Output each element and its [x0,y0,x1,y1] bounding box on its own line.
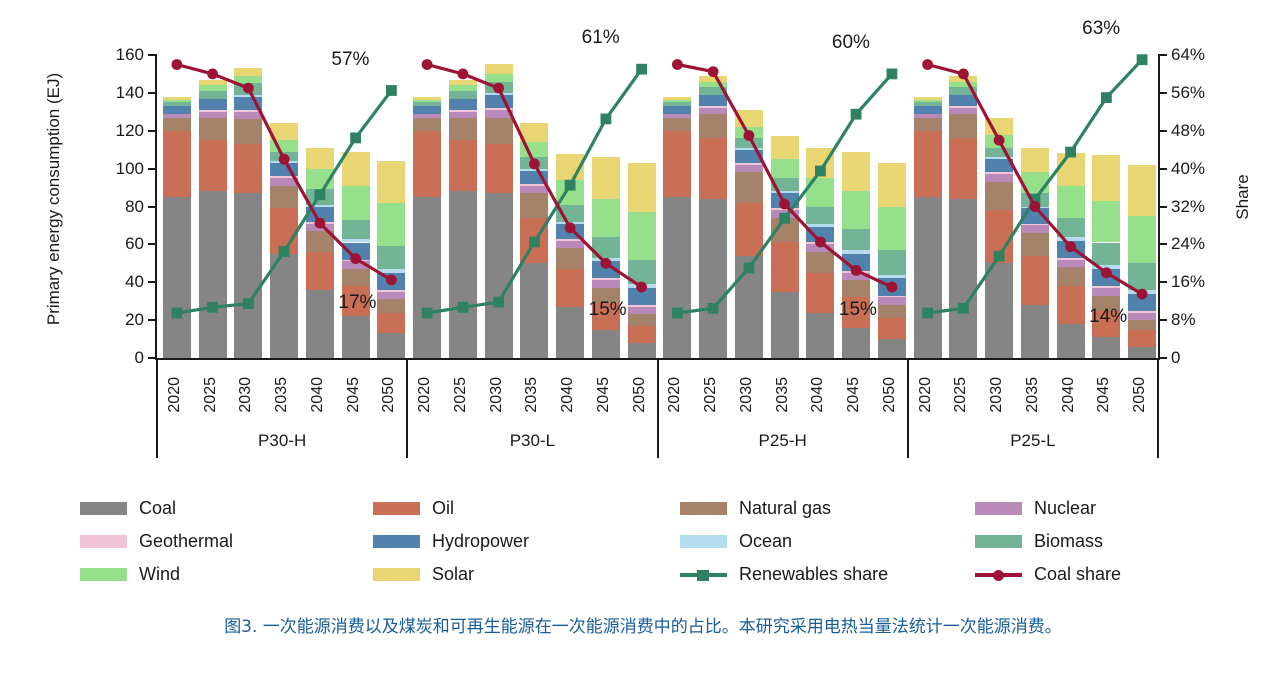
marker-renewables-share [779,213,790,224]
marker-coal-share [994,135,1005,146]
x-axis-tick-label: 2050 [1131,377,1149,437]
group-label-p25-l: P25-L [908,431,1158,451]
legend-item-oil[interactable]: Oil [373,498,454,519]
marker-coal-share [350,253,361,264]
x-axis-tick-label: 2050 [631,377,649,437]
legend-swatch-icon [373,535,420,548]
marker-coal-share [172,59,183,70]
y-axis-left-tick-label: 20 [125,310,144,330]
legend-item-coal[interactable]: Coal [80,498,176,519]
line-coal-share [677,65,892,288]
annotation-renewables-share-p30-l: 61% [582,27,620,49]
marker-renewables-share [672,308,683,319]
marker-renewables-share [565,180,576,191]
legend-swatch-icon [80,535,127,548]
y-axis-right-tick-label: 16% [1171,272,1205,292]
x-axis-tick-label: 2020 [917,377,935,437]
annotation-coal-share-p25-h: 15% [839,299,877,321]
marker-coal-share [315,218,326,229]
y-axis-right-tick [1158,130,1167,132]
legend-item-ocean[interactable]: Ocean [680,531,792,552]
legend-swatch-icon [373,502,420,515]
figure-caption: 图3. 一次能源消费以及煤炭和可再生能源在一次能源消费中的占比。本研究采用电热当… [0,612,1286,637]
y-axis-right-tick-label: 56% [1171,83,1205,103]
group-separator [406,360,408,458]
marker-coal-share [458,69,469,80]
y-axis-left-tick-label: 140 [116,83,144,103]
x-axis-tick-label: 2040 [559,377,577,437]
marker-renewables-share [529,237,540,248]
marker-coal-share [887,282,898,293]
group-label-p30-h: P30-H [157,431,407,451]
legend-label: Coal [139,498,176,519]
marker-renewables-share [815,166,826,177]
x-axis-tick-label: 2030 [237,377,255,437]
marker-renewables-share [422,308,433,319]
marker-renewables-share [207,302,218,313]
x-axis-tick-label: 2030 [488,377,506,437]
legend-label: Biomass [1034,531,1103,552]
legend-item-natural-gas[interactable]: Natural gas [680,498,831,519]
line-renewables-share [177,91,392,314]
y-axis-right-tick-label: 8% [1171,310,1196,330]
y-axis-right-tick [1158,168,1167,170]
y-axis-left-tick-label: 40 [125,272,144,292]
x-axis-tick-label: 2025 [702,377,720,437]
y-axis-right-title: Share [1233,152,1257,242]
marker-renewables-share [493,297,504,308]
marker-renewables-share [851,109,862,120]
x-axis-tick-label: 2020 [666,377,684,437]
legend-swatch-icon [680,502,727,515]
legend-item-renewables-share[interactable]: Renewables share [680,564,888,585]
y-axis-right-tick [1158,92,1167,94]
x-axis-tick-label: 2025 [202,377,220,437]
annotation-coal-share-p25-l: 14% [1089,306,1127,328]
marker-coal-share [958,69,969,80]
y-axis-right-line [1158,55,1160,360]
legend-label: Geothermal [139,531,233,552]
x-axis-tick-label: 2045 [845,377,863,437]
legend-label: Solar [432,564,474,585]
legend-label: Coal share [1034,564,1121,585]
x-axis-tick-label: 2030 [738,377,756,437]
marker-renewables-share [279,246,290,257]
marker-renewables-share [350,133,361,144]
legend-label: Renewables share [739,564,888,585]
y-axis-right-tick [1158,357,1167,359]
legend-line-icon [975,568,1022,581]
marker-renewables-share [887,69,898,80]
marker-coal-share [601,258,612,269]
legend-label: Nuclear [1034,498,1096,519]
x-axis-tick-label: 2045 [345,377,363,437]
marker-renewables-share [1101,92,1112,103]
x-axis-tick-label: 2045 [1095,377,1113,437]
y-axis-left-tick [148,206,157,208]
marker-coal-share [279,154,290,165]
y-axis-left-tick [148,319,157,321]
legend-swatch-icon [80,568,127,581]
legend-label: Wind [139,564,180,585]
line-renewables-share [427,69,641,313]
marker-coal-share [493,83,504,94]
y-axis-left-tick [148,130,157,132]
legend-line-icon [680,568,727,581]
group-separator [156,360,158,458]
y-axis-left-tick [148,54,157,56]
legend-swatch-icon [975,502,1022,515]
figure-root: Primary energy consumption (EJ) Share 02… [0,0,1286,699]
legend-label: Ocean [739,531,792,552]
y-axis-left-tick [148,168,157,170]
marker-coal-share [422,59,433,70]
marker-coal-share [1137,289,1148,300]
marker-renewables-share [636,64,647,75]
lines-layer [157,55,1158,358]
legend-item-nuclear[interactable]: Nuclear [975,498,1096,519]
y-axis-right-tick-label: 32% [1171,197,1205,217]
x-axis-tick-label: 2040 [309,377,327,437]
x-axis-tick-label: 2050 [380,377,398,437]
annotation-renewables-share-p30-h: 57% [331,49,369,71]
legend-swatch-icon [975,535,1022,548]
legend-swatch-icon [680,535,727,548]
marker-coal-share [636,282,647,293]
annotation-renewables-share-p25-h: 60% [832,32,870,54]
marker-renewables-share [386,85,397,96]
group-separator [657,360,659,458]
marker-renewables-share [708,303,719,314]
group-label-p25-h: P25-H [658,431,908,451]
legend-item-solar[interactable]: Solar [373,564,474,585]
legend-square-marker-icon [697,570,709,581]
marker-renewables-share [243,298,254,309]
marker-coal-share [744,130,755,141]
legend: CoalOilNatural gasNuclearGeothermalHydro… [80,498,1210,593]
legend-item-geothermal[interactable]: Geothermal [80,531,233,552]
annotation-coal-share-p30-h: 17% [338,292,376,314]
x-axis-tick-label: 2035 [774,377,792,437]
y-axis-left-tick-label: 120 [116,121,144,141]
y-axis-left-title: Primary energy consumption (EJ) [44,44,72,354]
legend-swatch-icon [373,568,420,581]
y-axis-right-tick [1158,243,1167,245]
marker-renewables-share [172,308,183,319]
y-axis-right-tick [1158,54,1167,56]
y-axis-right-tick-label: 48% [1171,121,1205,141]
y-axis-left-tick-label: 80 [125,197,144,217]
group-label-p30-l: P30-L [407,431,657,451]
x-axis-tick-label: 2035 [1024,377,1042,437]
marker-coal-share [708,66,719,77]
y-axis-left-tick-label: 60 [125,234,144,254]
marker-coal-share [1030,201,1041,212]
marker-renewables-share [1137,54,1148,65]
y-axis-right-tick [1158,206,1167,208]
legend-label: Natural gas [739,498,831,519]
line-coal-share [427,65,641,288]
x-axis-tick-label: 2020 [416,377,434,437]
y-axis-left-tick [148,281,157,283]
group-separator [907,360,909,458]
legend-item-coal-share[interactable]: Coal share [975,564,1121,585]
legend-item-hydropower[interactable]: Hydropower [373,531,529,552]
y-axis-right-tick [1158,281,1167,283]
x-axis-tick-label: 2040 [809,377,827,437]
marker-coal-share [851,265,862,276]
marker-renewables-share [994,251,1005,262]
y-axis-left-tick [148,243,157,245]
marker-renewables-share [315,189,326,200]
y-axis-left-tick-label: 100 [116,159,144,179]
y-axis-left-tick-label: 160 [116,45,144,65]
marker-renewables-share [744,263,755,274]
x-axis-tick-label: 2035 [273,377,291,437]
marker-coal-share [565,222,576,233]
annotation-coal-share-p30-l: 15% [589,299,627,321]
marker-coal-share [386,275,397,286]
marker-coal-share [1065,241,1076,252]
legend-item-biomass[interactable]: Biomass [975,531,1103,552]
y-axis-right-tick [1158,319,1167,321]
legend-label: Oil [432,498,454,519]
marker-renewables-share [958,303,969,314]
legend-circle-marker-icon [993,570,1004,581]
x-axis-tick-label: 2030 [988,377,1006,437]
x-axis-tick-label: 2050 [881,377,899,437]
legend-swatch-icon [80,502,127,515]
x-axis-tick-label: 2040 [1060,377,1078,437]
legend-label: Hydropower [432,531,529,552]
annotation-renewables-share-p25-l: 63% [1082,18,1120,40]
x-axis-tick-label: 2035 [523,377,541,437]
marker-renewables-share [458,302,469,313]
x-axis-tick-label: 2025 [952,377,970,437]
marker-renewables-share [1065,147,1076,158]
marker-coal-share [529,159,540,170]
y-axis-left-title-wrap: Primary energy consumption (EJ) [42,45,74,355]
plot-area: 020406080100120140160 08%16%24%32%40%48%… [157,55,1158,358]
marker-coal-share [207,69,218,80]
x-axis-tick-label: 2045 [595,377,613,437]
y-axis-left-tick [148,92,157,94]
y-axis-left-tick [148,357,157,359]
x-axis-tick-label: 2020 [166,377,184,437]
marker-renewables-share [601,114,612,125]
x-axis-tick-label: 2025 [452,377,470,437]
marker-coal-share [815,237,826,248]
legend-item-wind[interactable]: Wind [80,564,180,585]
marker-coal-share [672,59,683,70]
marker-coal-share [243,83,254,94]
y-axis-left-tick-label: 0 [135,348,144,368]
marker-coal-share [922,59,933,70]
y-axis-right-tick-label: 40% [1171,159,1205,179]
group-separator [1157,360,1159,458]
y-axis-right-tick-label: 64% [1171,45,1205,65]
marker-coal-share [779,199,790,210]
marker-renewables-share [922,308,933,319]
y-axis-right-tick-label: 24% [1171,234,1205,254]
y-axis-right-tick-label: 0 [1171,348,1180,368]
marker-coal-share [1101,267,1112,278]
